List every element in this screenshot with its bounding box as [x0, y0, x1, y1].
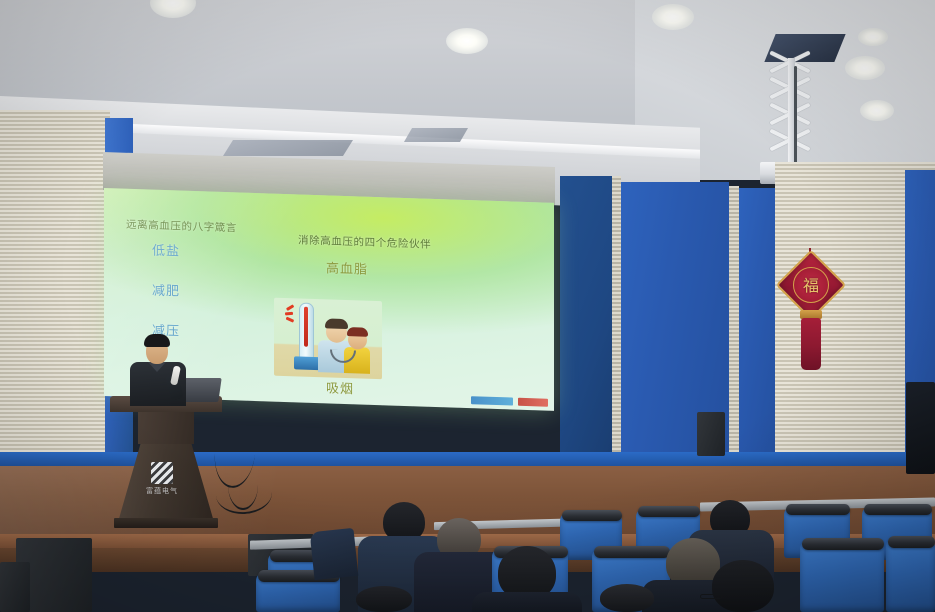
wall-panel-gap-2 — [729, 186, 739, 466]
seat-mid-4[interactable] — [800, 540, 884, 612]
slide-illustration — [274, 298, 382, 380]
ceiling-light-2 — [446, 28, 488, 54]
audience-head-7 — [356, 586, 412, 612]
slide-logo-red — [518, 398, 548, 407]
patient-hair — [347, 327, 368, 337]
ceiling-light-3 — [652, 4, 694, 30]
seat-cap-far-1 — [562, 510, 622, 521]
wall-panel-1 — [560, 176, 612, 466]
fu-knot-decoration: 福 — [780, 248, 842, 376]
slide-logo-blue — [471, 396, 513, 405]
seat-cap-mid-5 — [888, 536, 935, 548]
trash-bin — [697, 412, 725, 456]
slide-header-right: 消除高血压的四个危险伙伴 — [298, 232, 431, 251]
presenter-hair — [144, 334, 170, 347]
audience-shoulder-4 — [472, 592, 582, 612]
podium-neck — [138, 412, 194, 444]
wall-panel-3 — [739, 188, 775, 466]
slide-footer-logos — [471, 396, 548, 407]
podium-brand-text: 富蕴电气 — [136, 486, 188, 496]
wall-panel-gap-1 — [612, 176, 621, 466]
seat-cap-far-2 — [638, 506, 700, 517]
audience-head-6 — [712, 560, 774, 612]
audience-glasses — [700, 594, 722, 599]
ceiling-light-4 — [845, 56, 885, 80]
seat-cap-mid-4 — [802, 538, 884, 550]
right-wall-display — [906, 382, 935, 474]
left-ribbed-wall-panel — [0, 110, 110, 470]
audience-head-8 — [600, 584, 654, 612]
stage-speaker-left-2 — [0, 562, 30, 612]
thermometer-alert-icon — [286, 306, 300, 320]
audience-arm — [310, 528, 359, 580]
company-logo-icon — [151, 462, 173, 484]
slide-right-item-4: 吸烟 — [326, 377, 368, 397]
seat-cap-far-4 — [864, 504, 932, 515]
presenter — [128, 334, 188, 404]
thermometer-base — [294, 356, 320, 370]
ceiling-light-6 — [858, 28, 888, 46]
podium: 富蕴电气 — [112, 396, 220, 532]
doctor-hair — [325, 318, 348, 329]
fu-character: 福 — [800, 275, 822, 297]
seat-cap-mid-3 — [594, 546, 670, 558]
auditorium-photo: 福 远离高血压的八字箴言 消除高血压的四个危险伙伴 低盐 减肥 减压 限酒 高血… — [0, 0, 935, 612]
slide-left-item-2: 减肥 — [152, 280, 180, 300]
podium-base — [114, 518, 218, 528]
fu-knot-tassel — [801, 318, 821, 370]
seat-cap-far-3 — [786, 504, 850, 515]
slide-left-item-1: 低盐 — [152, 240, 180, 260]
thermometer-mercury — [304, 307, 308, 347]
slide-right-item-1: 高血脂 — [326, 257, 368, 277]
slide-header-left: 远离高血压的八字箴言 — [126, 217, 237, 236]
seat-mid-5[interactable] — [886, 538, 935, 612]
ceiling-light-5 — [860, 100, 894, 121]
